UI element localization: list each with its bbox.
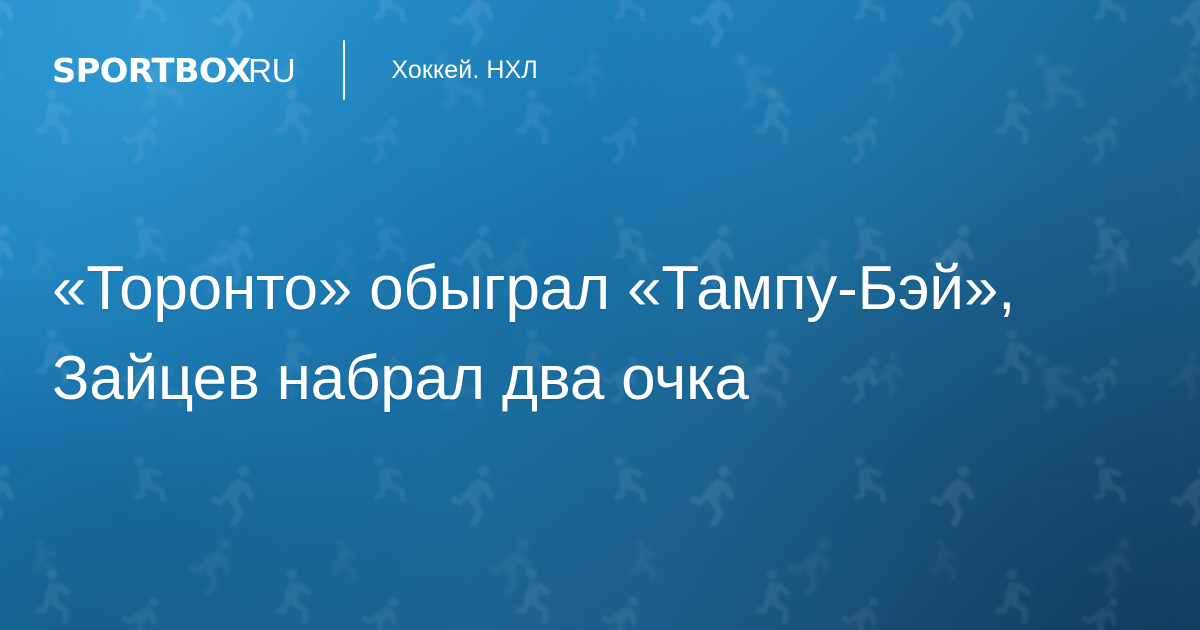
headline: «Торонто» обыграл «Тампу-Бэй», Зайцев на… <box>52 244 1152 424</box>
headline-line-2: Зайцев набрал два очка <box>52 334 1152 424</box>
header: SPORTBOX RU Хоккей. НХЛ <box>52 44 538 96</box>
header-divider <box>343 40 345 100</box>
sportbox-logo[interactable]: SPORTBOX RU <box>52 54 295 87</box>
logo-tld: RU <box>248 54 295 87</box>
section-label: Хоккей. НХЛ <box>391 56 537 85</box>
share-card: SPORTBOX RU Хоккей. НХЛ «Торонто» обыгра… <box>0 0 1200 630</box>
logo-wordmark: SPORTBOX <box>52 54 251 87</box>
headline-line-1: «Торонто» обыграл «Тампу-Бэй», <box>52 244 1152 334</box>
